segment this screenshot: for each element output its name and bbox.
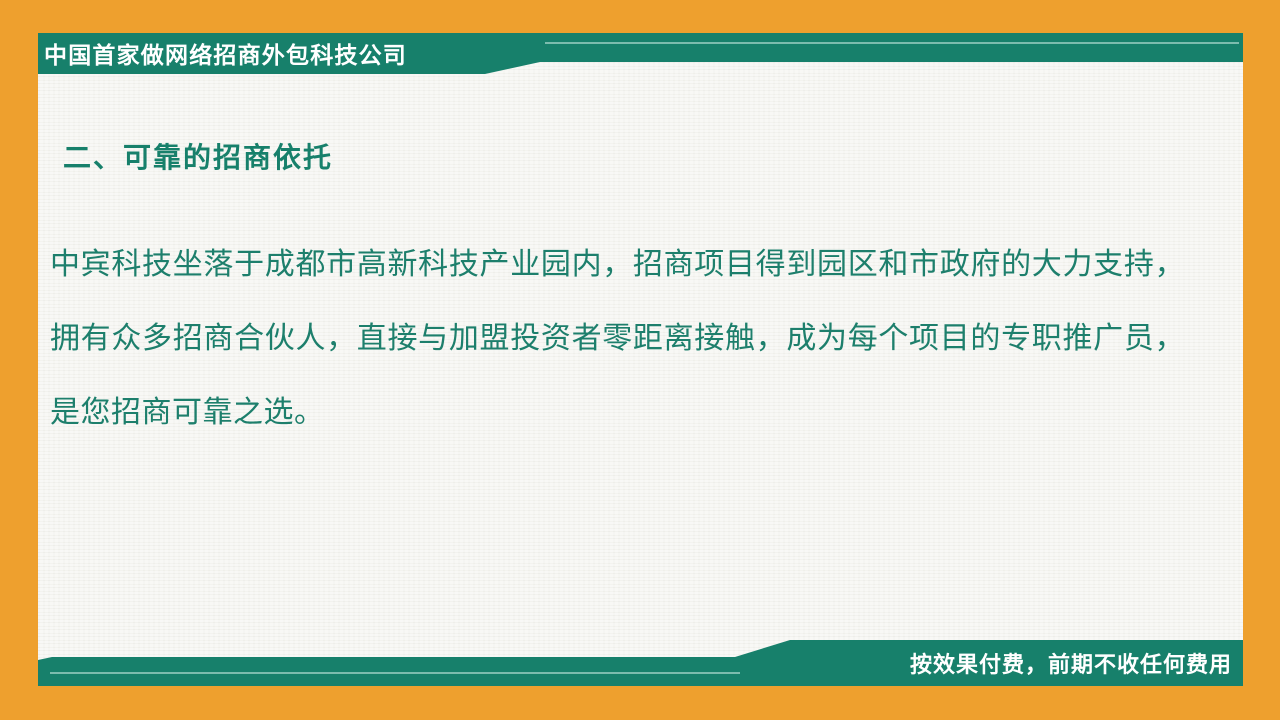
footer-tagline: 按效果付费，前期不收任何费用	[910, 648, 1232, 682]
page-title: 二、可靠的招商依托	[63, 136, 333, 176]
header-title: 中国首家做网络招商外包科技公司	[44, 38, 474, 72]
slide-canvas: 中国首家做网络招商外包科技公司 二、可靠的招商依托 中宾科技坐落于成都市高新科技…	[0, 0, 1280, 720]
body-paragraph: 中宾科技坐落于成都市高新科技产业园内，招商项目得到园区和市政府的大力支持，拥有众…	[50, 228, 1185, 450]
